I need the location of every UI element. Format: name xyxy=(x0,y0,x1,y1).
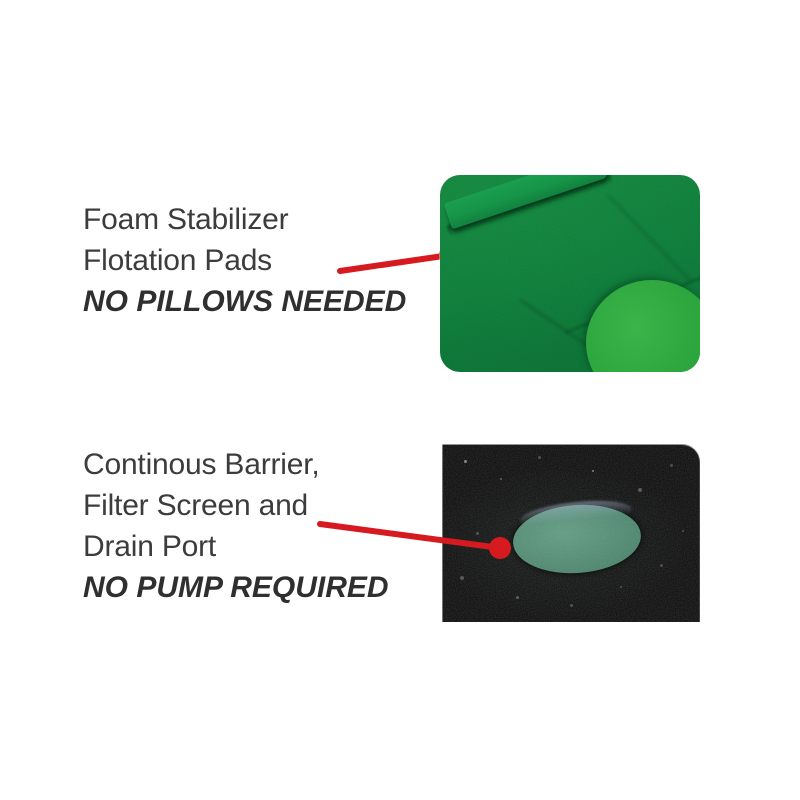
texture-speck xyxy=(464,460,467,463)
texture-speck xyxy=(660,564,663,567)
texture-speck xyxy=(460,576,464,580)
leader-line-foam-stabilizer xyxy=(0,0,800,800)
texture-speck xyxy=(620,586,622,588)
callout-text-drain-port: Continous Barrier, Filter Screen and Dra… xyxy=(83,444,389,608)
texture-speck xyxy=(516,596,519,599)
texture-speck xyxy=(638,488,642,492)
texture-speck xyxy=(538,456,541,459)
foam-stabilizer-flotation-pad-photo xyxy=(440,175,700,372)
callout-line: Drain Port xyxy=(83,526,389,567)
texture-speck xyxy=(592,470,594,472)
callout-text-foam-stabilizer: Foam Stabilizer Flotation Pads NO PILLOW… xyxy=(83,199,406,322)
texture-speck xyxy=(570,604,573,607)
callout-line: Foam Stabilizer xyxy=(83,199,406,240)
texture-speck xyxy=(500,478,502,480)
callout-emphasis-text: NO PILLOWS NEEDED xyxy=(83,281,406,322)
texture-speck xyxy=(682,530,684,532)
leader-line-drain-port xyxy=(0,0,800,800)
callout-line: Filter Screen and xyxy=(83,485,389,526)
annotated-product-feature-figure: Foam Stabilizer Flotation Pads NO PILLOW… xyxy=(0,0,800,800)
callout-line: Continous Barrier, xyxy=(83,444,389,485)
drain-port-filter-screen-photo xyxy=(442,444,700,622)
callout-emphasis-text: NO PUMP REQUIRED xyxy=(83,567,389,608)
texture-speck xyxy=(670,464,673,467)
texture-speck xyxy=(476,532,479,535)
callout-line: Flotation Pads xyxy=(83,240,406,281)
